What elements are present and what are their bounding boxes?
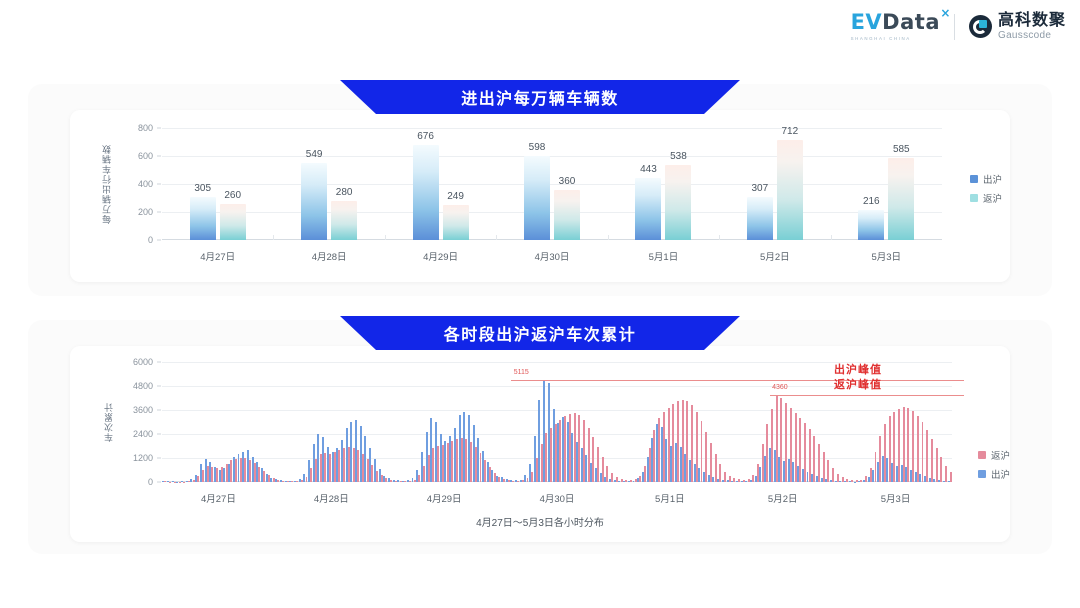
chart2-bar-out [708, 475, 710, 482]
chart2-bar-out [327, 447, 329, 482]
chart2-y-tick-mark [157, 410, 161, 411]
chart2-bar-ret [926, 430, 928, 482]
chart2-bar-out [379, 469, 381, 482]
chart2-legend-swatch [978, 451, 986, 459]
chart2-bar-out [882, 456, 884, 482]
chart2-bar-out [261, 468, 263, 482]
chart2-bar-out [388, 478, 390, 482]
chart2-bar-out [397, 480, 399, 482]
chart2-bar-out [924, 476, 926, 482]
chart2-x-caption: 4月27日～5月3日各小时分布 [70, 514, 1010, 529]
chart2-bar-out [807, 472, 809, 482]
chart2-bar-out [684, 454, 686, 482]
chart2-bar-out [181, 481, 183, 482]
chart2-bar-out [491, 470, 493, 482]
chart2-bar-out [835, 481, 837, 482]
chart2-annotation-label: 出沪峰值 [834, 361, 882, 377]
chart1-x-separator [831, 235, 832, 240]
chart1-panel: 每万辆出行车辆数02004006008003052604月27日5492804月… [28, 84, 1052, 296]
chart2-bar-out [694, 464, 696, 482]
chart2-bar-out [604, 477, 606, 482]
chart2-bar-out [943, 481, 945, 482]
chart1-bar-value: 360 [559, 176, 576, 187]
chart2-y-tick-label: 4800 [119, 381, 153, 391]
chart2-gridline [162, 410, 952, 411]
chart1-x-tick-label: 4月28日 [312, 249, 347, 263]
chart2-bar-out [534, 436, 536, 482]
chart1-x-tick-label: 4月29日 [423, 249, 458, 263]
chart2-bar-out [247, 450, 249, 482]
chart2-bar-out [788, 459, 790, 482]
chart2-bar-out [336, 448, 338, 482]
chart1-legend-swatch [970, 194, 978, 202]
chart2-bar-out [783, 461, 785, 482]
chart2-bar-ret [832, 468, 834, 482]
chart2-x-tick-label: 5月3日 [881, 491, 911, 505]
chart1-bar-value: 585 [893, 144, 910, 155]
chart2-bar-out [886, 458, 888, 482]
chart1-x-tick-label: 5月3日 [871, 249, 901, 263]
chart2-y-tick-mark [157, 482, 161, 483]
chart2-legend: 返沪出沪 [978, 448, 1010, 481]
chart2-bar-out [200, 464, 202, 482]
logo-group: EVData× shanghai china 高科数聚 Gausscode [851, 12, 1066, 41]
chart2-bar-out [473, 425, 475, 482]
chart1-x-separator [608, 235, 609, 240]
chart2-bar-out [633, 481, 635, 482]
chart1-x-tick-label: 5月1日 [649, 249, 679, 263]
chart1-bar-out [413, 145, 439, 240]
chart2-bar-out [275, 479, 277, 482]
chart2-bar-out [759, 467, 761, 482]
chart2-bar-out [712, 477, 714, 482]
chart2-bar-out [407, 480, 409, 482]
chart2-bar-ret [827, 460, 829, 482]
chart2-bar-ret [710, 443, 712, 482]
chart1-y-tick-mark [157, 156, 161, 157]
chart2-bar-out [186, 481, 188, 482]
chart2-bar-out [642, 472, 644, 482]
chart2-legend-item: 返沪 [978, 448, 1010, 462]
chart2-bar-out [839, 481, 841, 482]
chart1-bar-ret [220, 204, 246, 240]
chart2-y-tick-mark [157, 386, 161, 387]
chart1-x-axis-line [162, 239, 942, 240]
chart2-bar-out [562, 417, 564, 482]
chart1-x-separator [496, 235, 497, 240]
evdata-logo: EVData× shanghai china [851, 12, 940, 41]
chart2-bar-ret [922, 422, 924, 482]
chart2-bar-out [308, 460, 310, 482]
chart2-bar-out [618, 481, 620, 482]
chart2-bar-out [369, 448, 371, 482]
chart2-annotation-value: 5115 [514, 369, 529, 376]
chart2-bar-out [280, 480, 282, 482]
evdata-wordmark: EVData× [851, 12, 940, 33]
chart2-bar-out [520, 480, 522, 482]
chart2-bar-out [948, 481, 950, 482]
chart2-bar-out [929, 478, 931, 482]
chart2-bar-out [722, 480, 724, 482]
chart2-bar-ret [813, 436, 815, 482]
chart1-x-separator [273, 235, 274, 240]
chart2-bar-out [332, 452, 334, 482]
chart1-bar-out [190, 197, 216, 240]
gausscode-en-name: Gausscode [998, 31, 1066, 41]
chart2-y-tick-mark [157, 458, 161, 459]
chart2-bar-out [637, 478, 639, 482]
chart2-bar-out [172, 481, 174, 482]
chart1-x-separator [719, 235, 720, 240]
chart1-bar-value: 260 [224, 190, 241, 201]
chart1-bar-ret [331, 201, 357, 240]
chart2-bar-out [830, 480, 832, 482]
chart2-bar-out [543, 380, 545, 482]
chart2-bar-out [731, 481, 733, 482]
chart2-bar-out [576, 442, 578, 482]
chart2-legend-label: 出沪 [991, 467, 1010, 481]
chart2-bar-out [661, 427, 663, 482]
chart1-bar-value: 216 [863, 196, 880, 207]
chart2-legend-label: 返沪 [991, 448, 1010, 462]
chart2-bar-out [430, 418, 432, 482]
chart2-bar-out [802, 469, 804, 482]
chart2-bar-out [703, 472, 705, 482]
chart2-bar-out [600, 473, 602, 482]
chart2-bar-ret [940, 457, 942, 482]
chart1-bar-ret [443, 205, 469, 240]
chart2-legend-swatch [978, 470, 986, 478]
chart2-bar-out [651, 438, 653, 482]
chart2-bar-out [741, 481, 743, 482]
chart2-bar-out [383, 476, 385, 482]
chart2-legend-item: 出沪 [978, 467, 1010, 481]
chart1-bar-value: 598 [529, 142, 546, 153]
chart2-bar-out [459, 415, 461, 482]
chart2-bar-out [444, 441, 446, 482]
chart2-bar-out [242, 452, 244, 482]
page-header: EVData× shanghai china 高科数聚 Gausscode [0, 0, 1080, 58]
chart1-legend-label: 返沪 [983, 191, 1002, 205]
chart2-bar-out [299, 479, 301, 482]
chart2-bar-out [736, 481, 738, 482]
chart2-bar-out [238, 454, 240, 482]
chart2-bar-out [440, 434, 442, 482]
chart1-bar-out [524, 156, 550, 240]
logo-divider [954, 14, 955, 40]
chart2-bar-out [322, 437, 324, 482]
chart2-bar-out [515, 480, 517, 482]
chart2-bar-out [360, 426, 362, 482]
chart2-bar-out [858, 481, 860, 482]
evdata-suffix: Data [882, 10, 940, 34]
chart2-bar-out [524, 475, 526, 482]
chart2-bar-out [219, 470, 221, 482]
chart2-bar-out [849, 481, 851, 482]
chart2-annotation-label: 返沪峰值 [834, 376, 882, 392]
chart2-bar-out [355, 420, 357, 482]
chart2-bar-out [529, 464, 531, 482]
chart2-bar-out [548, 383, 550, 482]
chart2-bar-out [496, 476, 498, 482]
chart2-bar-out [680, 447, 682, 482]
evdata-subtitle: shanghai china [851, 36, 911, 41]
chart2-bar-ret [823, 452, 825, 482]
chart2-bar-out [877, 462, 879, 482]
chart2-card: 车次累计0120024003600480060004月27日4月28日4月29日… [70, 346, 1010, 542]
chart2-bar-out [675, 443, 677, 482]
chart2-bar-out [797, 466, 799, 482]
chart1-bar-value: 676 [417, 131, 434, 142]
chart1-y-tick-mark [157, 184, 161, 185]
chart1-gridline [162, 184, 942, 185]
chart2-bar-out [341, 440, 343, 482]
chart2-bar-out [821, 478, 823, 482]
chart2-bar-out [825, 479, 827, 482]
chart2-bar-out [477, 438, 479, 482]
chart2-y-tick-label: 2400 [119, 429, 153, 439]
chart2-bar-out [393, 480, 395, 482]
chart1-y-tick-mark [157, 240, 161, 241]
chart2-bar-out [214, 467, 216, 482]
chart2-x-tick-label: 4月29日 [427, 491, 462, 505]
chart2-y-tick-label: 3600 [119, 405, 153, 415]
chart2-bar-out [938, 480, 940, 482]
chart2-bar-out [482, 451, 484, 482]
chart2-bar-out [656, 424, 658, 482]
chart2-bar-out [270, 478, 272, 482]
chart2-bar-out [454, 428, 456, 482]
chart2-bar-out [750, 480, 752, 482]
chart2-bar-out [698, 468, 700, 482]
chart2-bar-out [910, 470, 912, 482]
chart2-bar-out [506, 479, 508, 482]
chart2-bar-out [769, 448, 771, 482]
chart1-bar-value: 307 [752, 183, 769, 194]
chart1-title: 进出沪每万辆车辆数 [461, 85, 619, 109]
chart2-bar-out [915, 472, 917, 482]
chart2-x-tick-label: 5月2日 [768, 491, 798, 505]
chart2-bar-out [868, 477, 870, 482]
chart1-legend-label: 出沪 [983, 172, 1002, 186]
chart2-bar-out [303, 474, 305, 482]
chart2-bar-out [313, 444, 315, 482]
chart2-bar-out [774, 450, 776, 482]
chart2-bar-out [863, 480, 865, 482]
chart2-bar-out [919, 474, 921, 482]
chart2-bar-out [167, 481, 169, 482]
chart1-y-tick-label: 600 [123, 151, 153, 161]
chart2-plot-area: 车次累计0120024003600480060004月27日4月28日4月29日… [162, 362, 952, 482]
chart1-plot-area: 每万辆出行车辆数02004006008003052604月27日5492804月… [162, 128, 942, 240]
chart2-y-tick-label: 0 [119, 477, 153, 487]
chart2-bar-out [266, 474, 268, 482]
chart2-bar-out [317, 434, 319, 482]
chart2-bar-out [501, 477, 503, 482]
chart2-bar-out [421, 452, 423, 482]
chart2-bar-out [426, 432, 428, 482]
chart2-x-tick-label: 4月30日 [540, 491, 575, 505]
chart2-x-tick-label: 5月1日 [655, 491, 685, 505]
chart2-bar-out [590, 463, 592, 482]
chart1-gridline [162, 128, 942, 129]
chart1-bar-ret [888, 158, 914, 240]
chart2-bar-out [623, 481, 625, 482]
chart1-legend-item: 返沪 [970, 191, 1002, 205]
chart2-bar-ret [715, 454, 717, 482]
chart2-bar-out [510, 480, 512, 482]
chart2-bar-out [896, 466, 898, 482]
chart2-bar-out [289, 481, 291, 482]
chart2-bar-out [205, 459, 207, 482]
chart2-bar-out [364, 436, 366, 482]
chart2-y-tick-mark [157, 434, 161, 435]
chart1-bar-value: 538 [670, 151, 687, 162]
chart1-y-tick-label: 0 [123, 235, 153, 245]
chart1-bar-out [635, 178, 661, 240]
chart1-bar-value: 712 [782, 126, 799, 137]
chart2-bar-out [933, 479, 935, 482]
chart2-bar-out [581, 448, 583, 482]
gausscode-logo: 高科数聚 Gausscode [969, 13, 1066, 41]
chart1-bar-value: 549 [306, 149, 323, 160]
chart1-gridline [162, 212, 942, 213]
chart2-bar-out [374, 459, 376, 482]
chart2-bar-out [487, 462, 489, 482]
chart2-annotation-line [770, 395, 964, 396]
chart2-bar-out [416, 470, 418, 482]
chart2-bar-out [665, 439, 667, 482]
chart2-bar-out [778, 457, 780, 482]
chart1-bar-out [747, 197, 773, 240]
chart2-bar-out [571, 433, 573, 482]
chart1-bar-out [858, 210, 884, 240]
chart2-bar-out [412, 478, 414, 482]
gausscode-text: 高科数聚 Gausscode [998, 13, 1066, 41]
chart2-bar-ret [936, 448, 938, 482]
chart1-bar-ret [665, 165, 691, 240]
chart2-y-axis-label: 车次累计 [102, 362, 115, 482]
chart1-y-axis-label: 每万辆出行车辆数 [100, 128, 113, 240]
chart2-title: 各时段出沪返沪车次累计 [444, 321, 637, 345]
chart1-bar-value: 280 [336, 187, 353, 198]
chart2-bar-out [402, 481, 404, 482]
chart2-bar-ret [818, 444, 820, 482]
chart2-bar-out [223, 468, 225, 482]
chart2-annotation-line [511, 380, 964, 381]
chart2-bar-out [346, 428, 348, 482]
chart2-bar-out [614, 480, 616, 482]
chart1-y-tick-label: 200 [123, 207, 153, 217]
chart2-y-tick-mark [157, 362, 161, 363]
chart2-bar-out [463, 412, 465, 482]
chart1-bar-out [301, 163, 327, 240]
chart1-x-tick-label: 4月27日 [200, 249, 235, 263]
chart2-bar-out [755, 476, 757, 482]
chart2-bar-out [585, 455, 587, 482]
chart2-x-tick-label: 4月28日 [314, 491, 349, 505]
chart2-bar-out [609, 479, 611, 482]
chart2-bar-ret [945, 466, 947, 482]
gausscode-mark-icon [969, 15, 992, 38]
chart2-bar-out [844, 481, 846, 482]
chart2-bar-ret [917, 416, 919, 482]
chart2-bar-out [717, 479, 719, 482]
chart2-bar-out [557, 423, 559, 482]
chart1-card: 每万辆出行车辆数02004006008003052604月27日5492804月… [70, 110, 1010, 282]
chart2-bar-out [553, 409, 555, 482]
chart2-bar-out [468, 415, 470, 482]
chart2-y-tick-label: 1200 [119, 453, 153, 463]
chart1-bar-ret [777, 140, 803, 240]
chart2-bar-out [162, 481, 164, 482]
evdata-superscript-icon: × [940, 7, 951, 19]
chart1-y-tick-label: 800 [123, 123, 153, 133]
chart2-bar-out [628, 481, 630, 482]
chart1-legend-swatch [970, 175, 978, 183]
chart2-title-ribbon: 各时段出沪返沪车次累计 [340, 316, 740, 350]
chart2-bar-out [285, 481, 287, 482]
chart2-bar-out [811, 474, 813, 482]
chart2-bar-out [595, 468, 597, 482]
chart1-legend-item: 出沪 [970, 172, 1002, 186]
chart2-bar-out [891, 463, 893, 482]
chart2-bar-out [792, 462, 794, 482]
chart1-bar-value: 249 [447, 191, 464, 202]
chart2-bar-ret [950, 472, 952, 482]
chart1-x-tick-label: 5月2日 [760, 249, 790, 263]
chart2-bar-out [872, 470, 874, 482]
evdata-prefix: EV [851, 10, 883, 34]
chart2-bar-ret [931, 439, 933, 482]
chart2-bar-out [228, 464, 230, 482]
chart2-bar-out [195, 475, 197, 482]
chart2-annotation-value: 4360 [772, 384, 788, 391]
chart2-bar-out [816, 476, 818, 482]
chart2-bar-out [294, 481, 296, 482]
chart2-x-tick-label: 4月27日 [201, 491, 236, 505]
chart2-bar-out [252, 457, 254, 482]
chart1-gridline [162, 156, 942, 157]
chart1-x-tick-label: 4月30日 [535, 249, 570, 263]
chart1-legend: 出沪返沪 [970, 172, 1002, 205]
chart2-panel: 车次累计0120024003600480060004月27日4月28日4月29日… [28, 320, 1052, 554]
chart1-title-ribbon: 进出沪每万辆车辆数 [340, 80, 740, 114]
chart2-bar-out [209, 462, 211, 482]
chart2-bar-out [727, 480, 729, 482]
gausscode-cn-name: 高科数聚 [998, 13, 1066, 29]
chart2-bar-out [647, 457, 649, 482]
chart2-bar-out [670, 446, 672, 482]
chart2-bar-out [350, 422, 352, 482]
chart2-bar-out [176, 482, 178, 483]
chart2-bar-out [689, 460, 691, 482]
chart1-y-tick-mark [157, 128, 161, 129]
chart2-y-tick-label: 6000 [119, 357, 153, 367]
chart2-bar-out [435, 422, 437, 482]
chart2-bar-out [190, 479, 192, 482]
chart2-bar-out [233, 457, 235, 482]
chart1-y-tick-label: 400 [123, 179, 153, 189]
chart2-bar-out [538, 400, 540, 482]
chart2-bar-out [905, 467, 907, 482]
chart2-bar-out [745, 481, 747, 482]
chart2-bar-out [764, 456, 766, 482]
chart1-y-tick-mark [157, 212, 161, 213]
chart1-bar-value: 305 [194, 183, 211, 194]
chart2-bar-out [256, 462, 258, 482]
chart1-bar-value: 443 [640, 164, 657, 175]
